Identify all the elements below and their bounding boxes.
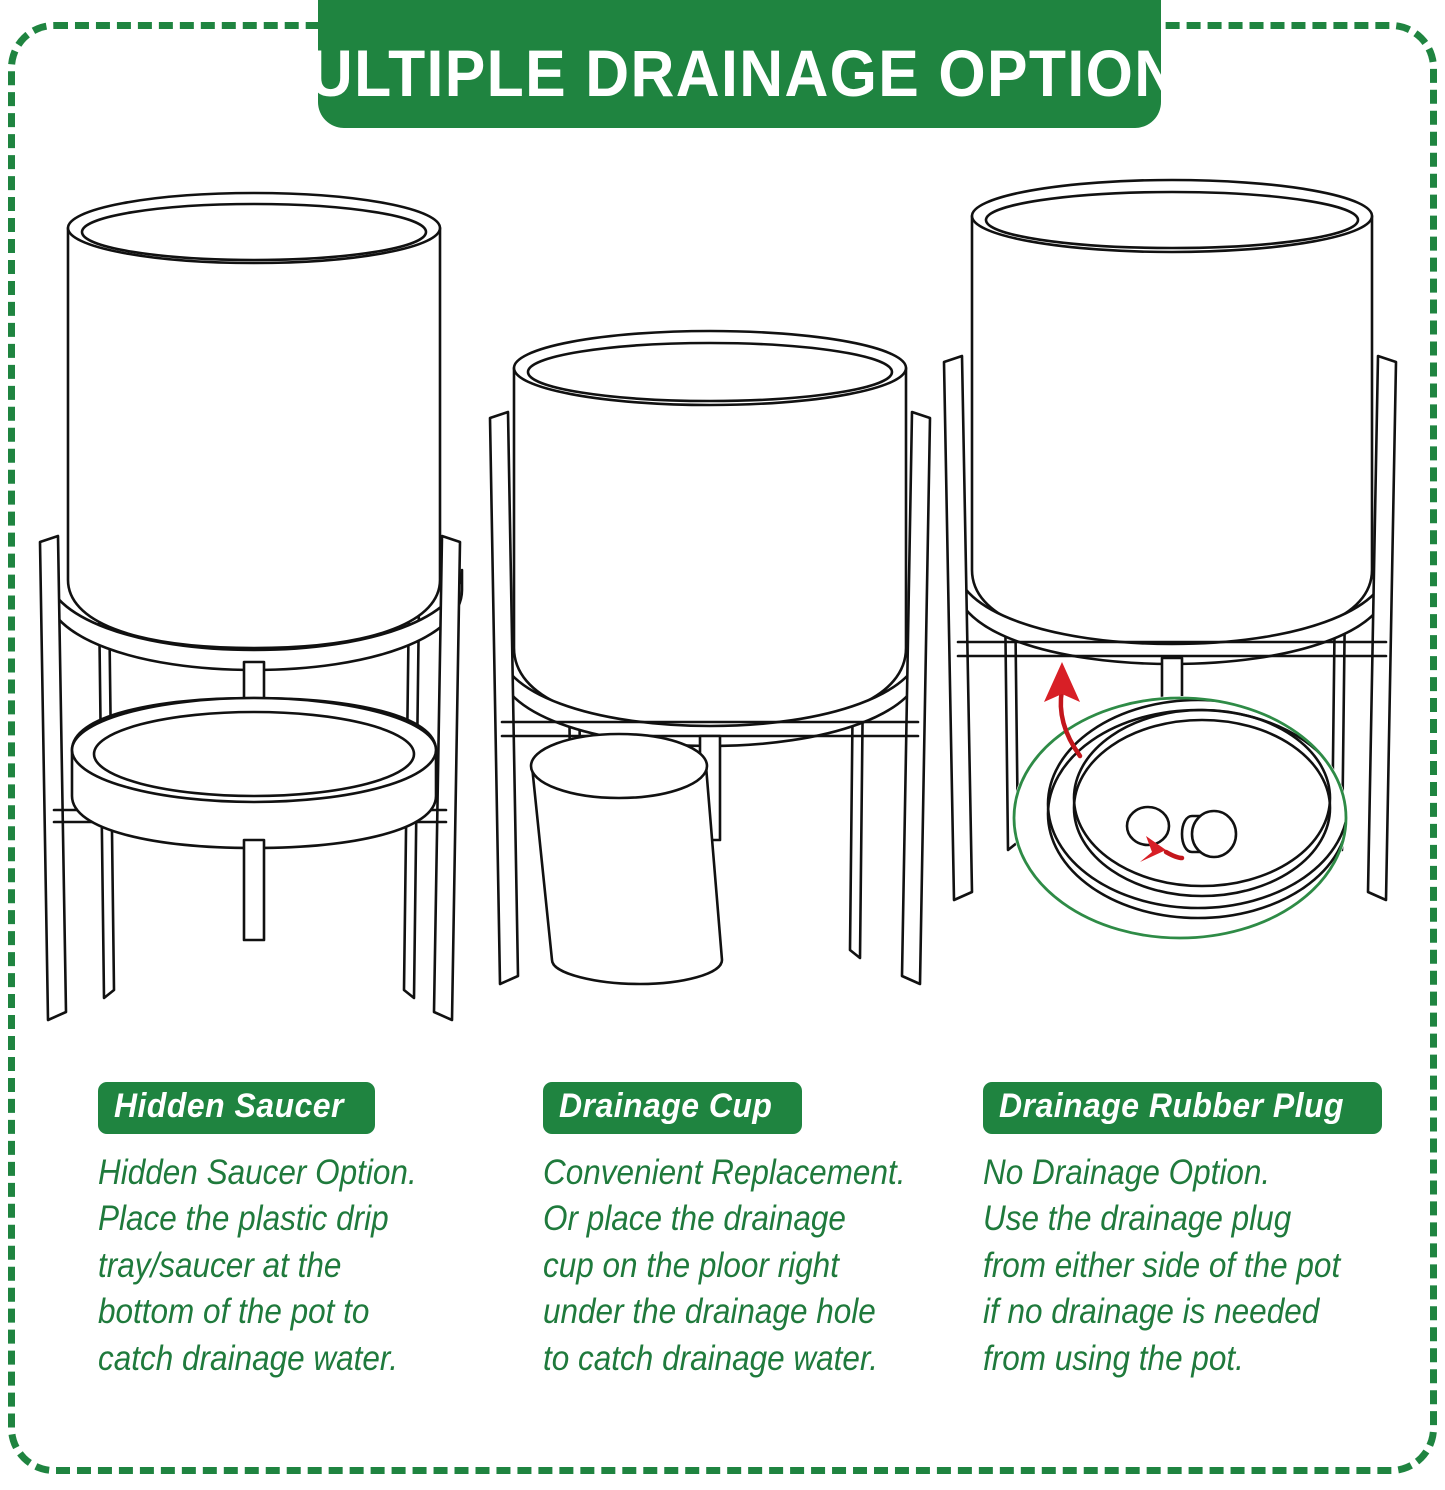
caption-column-rubber-plug: Drainage Rubber Plug No Drainage Option.… xyxy=(983,1082,1403,1412)
drainage-cup xyxy=(531,734,722,984)
caption-body-drainage-cup: Convenient Replacement. Or place the dra… xyxy=(543,1150,939,1383)
illustrations-row xyxy=(0,150,1445,1050)
drip-saucer-tray xyxy=(72,698,436,848)
pot-body xyxy=(972,180,1372,646)
title-banner: MULTIPLE DRAINAGE OPTIONS xyxy=(318,0,1161,128)
pill-hidden-saucer: Hidden Saucer xyxy=(98,1082,375,1134)
pill-label: Drainage Cup xyxy=(559,1089,772,1125)
infographic-page: MULTIPLE DRAINAGE OPTIONS xyxy=(0,0,1445,1490)
magnifier-detail xyxy=(1012,696,1348,940)
caption-body-rubber-plug: No Drainage Option. Use the drainage plu… xyxy=(983,1150,1361,1383)
pot-body xyxy=(514,331,906,728)
pill-drainage-cup: Drainage Cup xyxy=(543,1082,802,1134)
caption-column-drainage-cup: Drainage Cup Convenient Replacement. Or … xyxy=(543,1082,983,1412)
rubber-plug xyxy=(1182,811,1236,857)
center-post-lower xyxy=(244,840,264,940)
captions-row: Hidden Saucer Hidden Saucer Option. Plac… xyxy=(0,1082,1445,1412)
caption-column-hidden-saucer: Hidden Saucer Hidden Saucer Option. Plac… xyxy=(98,1082,543,1412)
illustration-hidden-saucer xyxy=(10,150,490,1050)
pot-body xyxy=(68,193,440,648)
caption-body-hidden-saucer: Hidden Saucer Option. Place the plastic … xyxy=(98,1150,499,1383)
illustration-drainage-cup xyxy=(470,150,950,1050)
pill-label: Drainage Rubber Plug xyxy=(999,1089,1344,1125)
pill-label: Hidden Saucer xyxy=(114,1089,344,1125)
illustration-rubber-plug xyxy=(930,150,1410,1050)
page-title: MULTIPLE DRAINAGE OPTIONS xyxy=(257,40,1221,106)
pill-drainage-rubber-plug: Drainage Rubber Plug xyxy=(983,1082,1382,1134)
